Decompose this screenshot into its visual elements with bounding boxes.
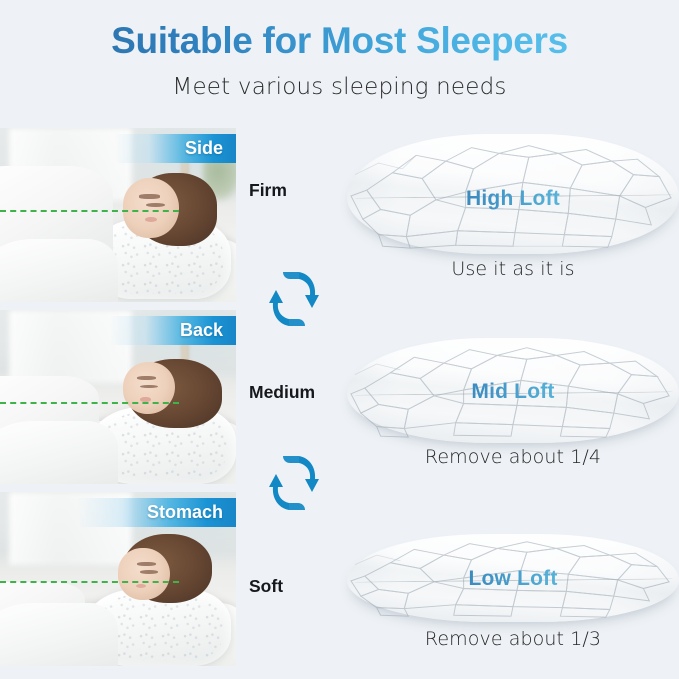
spine-alignment-line: [0, 210, 179, 212]
sleeper-eye: [140, 570, 158, 573]
sleep-position-label-stomach: Stomach: [77, 498, 236, 527]
page-subtitle: Meet various sleeping needs: [0, 74, 679, 100]
product-pillow-mid-loft: Mid Loft: [347, 338, 679, 443]
blanket: [0, 239, 118, 302]
loft-caption-medium: Remove about 1/4: [347, 446, 679, 468]
sleep-position-photo-column: Side Back: [0, 128, 236, 679]
loft-label-high: High Loft: [347, 187, 679, 211]
header: Suitable for Most Sleepers Meet various …: [0, 0, 679, 120]
loft-label-low: Low Loft: [347, 567, 679, 591]
loft-row-soft: Soft: [243, 504, 679, 679]
sleeper-brow: [139, 194, 160, 199]
loft-label-mid: Mid Loft: [347, 380, 679, 404]
loft-caption-soft: Remove about 1/3: [347, 628, 679, 650]
loft-level-column: Firm: [243, 128, 679, 679]
sleep-position-label-back: Back: [110, 316, 236, 345]
sleeper-eye: [146, 203, 165, 207]
sleep-position-panel-back: Back: [0, 310, 236, 484]
firmness-label-medium: Medium: [249, 382, 315, 403]
spine-alignment-line: [0, 581, 179, 583]
sleeper-face: [123, 178, 180, 237]
blanket: [0, 603, 118, 666]
firmness-label-firm: Firm: [249, 180, 287, 201]
sleeper-lip: [145, 217, 157, 222]
page-title: Suitable for Most Sleepers: [0, 20, 679, 62]
product-pillow-high-loft: High Loft: [347, 134, 679, 254]
product-infographic: Suitable for Most Sleepers Meet various …: [0, 0, 679, 679]
firmness-label-soft: Soft: [249, 576, 283, 597]
sleeper-brow: [137, 562, 156, 566]
product-pillow-low-loft: Low Loft: [347, 534, 679, 622]
spine-alignment-line: [0, 402, 179, 404]
blanket: [0, 421, 118, 484]
sleeper-lip: [140, 397, 151, 402]
loft-caption-firm: Use it as it is: [347, 258, 679, 280]
sleeper-brow: [137, 376, 156, 380]
sleep-position-panel-stomach: Stomach: [0, 492, 236, 666]
sleeper-face: [118, 548, 170, 600]
sleep-position-label-side: Side: [115, 134, 236, 163]
sleep-position-panel-side: Side: [0, 128, 236, 302]
